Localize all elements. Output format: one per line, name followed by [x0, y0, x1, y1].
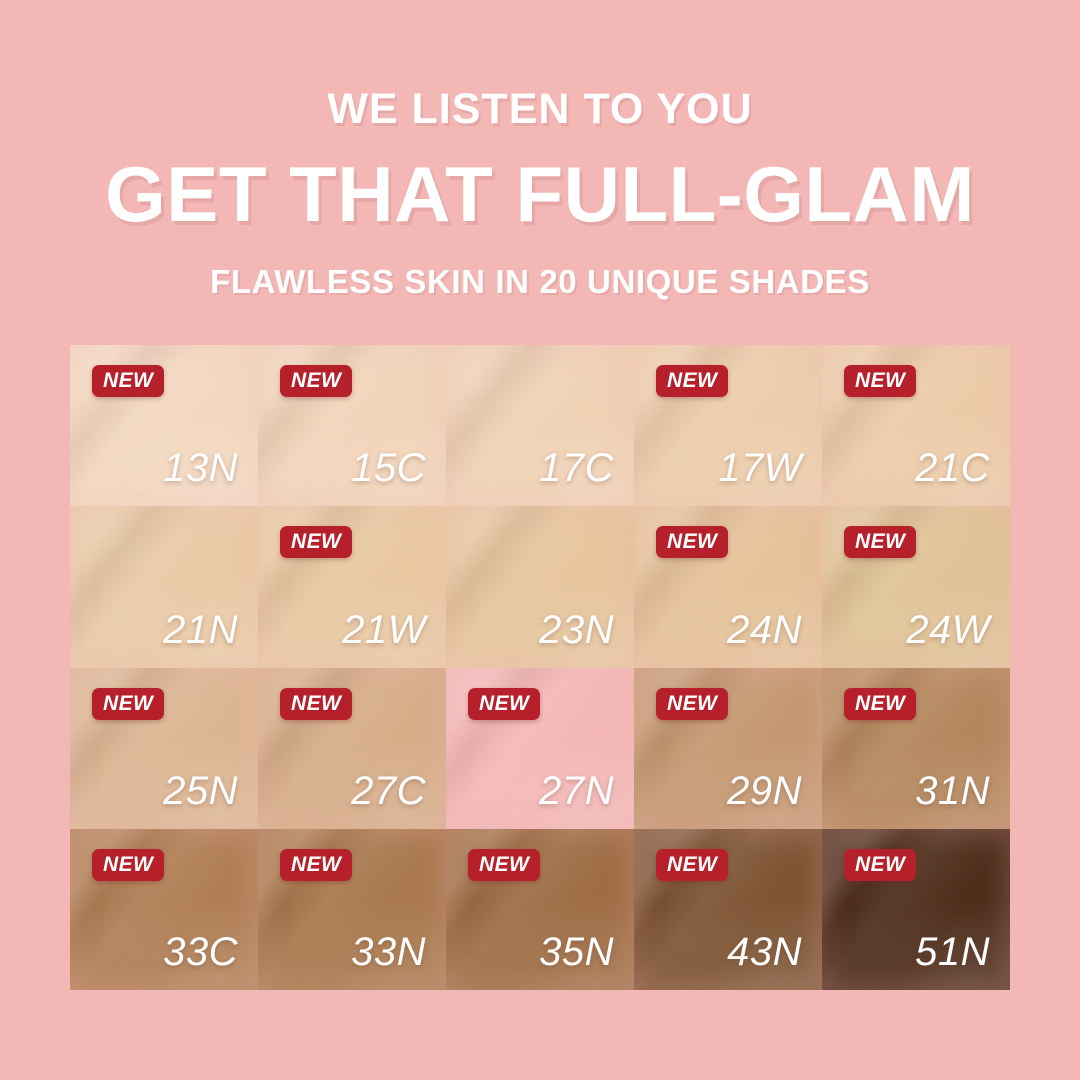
shade-code-label: 21N — [163, 610, 238, 650]
new-badge: NEW — [280, 688, 352, 720]
promo-banner: WE LISTEN TO YOU GET THAT FULL-GLAM FLAW… — [0, 0, 1080, 1080]
shade-code-label: 35N — [539, 932, 614, 972]
shade-code-label: 27N — [539, 771, 614, 811]
new-badge: NEW — [468, 688, 540, 720]
shade-code-label: 33C — [163, 932, 238, 972]
shade-code-label: 51N — [915, 932, 990, 972]
shade-swatch[interactable]: NEW27N — [446, 668, 634, 829]
shade-code-label: 13N — [163, 448, 238, 488]
shade-swatch[interactable]: NEW24N — [634, 506, 822, 667]
shade-swatch[interactable]: NEW24W — [822, 506, 1010, 667]
shade-code-label: 15C — [351, 448, 426, 488]
new-badge: NEW — [656, 849, 728, 881]
new-badge: NEW — [844, 526, 916, 558]
shade-code-label: 43N — [727, 932, 802, 972]
shade-swatch[interactable]: NEW29N — [634, 668, 822, 829]
shade-swatch[interactable]: NEW25N — [70, 668, 258, 829]
shade-code-label: 24W — [906, 610, 990, 650]
shade-swatch[interactable]: 23N — [446, 506, 634, 667]
shade-swatch[interactable]: NEW35N — [446, 829, 634, 990]
shade-swatch[interactable]: 17C — [446, 345, 634, 506]
eyebrow-text: WE LISTEN TO YOU — [0, 88, 1080, 131]
shade-swatch[interactable]: NEW51N — [822, 829, 1010, 990]
shade-code-label: 33N — [351, 932, 426, 972]
new-badge: NEW — [844, 365, 916, 397]
shade-swatch[interactable]: NEW15C — [258, 345, 446, 506]
new-badge: NEW — [280, 526, 352, 558]
shade-code-label: 24N — [727, 610, 802, 650]
headline-block: WE LISTEN TO YOU GET THAT FULL-GLAM FLAW… — [0, 0, 1080, 298]
new-badge: NEW — [280, 849, 352, 881]
new-badge: NEW — [656, 688, 728, 720]
new-badge: NEW — [844, 849, 916, 881]
shade-swatch[interactable]: NEW17W — [634, 345, 822, 506]
new-badge: NEW — [656, 365, 728, 397]
new-badge: NEW — [468, 849, 540, 881]
shade-swatch[interactable]: 21N — [70, 506, 258, 667]
new-badge: NEW — [92, 688, 164, 720]
shade-code-label: 25N — [163, 771, 238, 811]
new-badge: NEW — [656, 526, 728, 558]
shade-swatch[interactable]: NEW33C — [70, 829, 258, 990]
shade-code-label: 17C — [539, 448, 614, 488]
shade-grid: NEW13NNEW15C17CNEW17WNEW21C21NNEW21W23NN… — [70, 345, 1010, 990]
page-title: GET THAT FULL-GLAM — [0, 155, 1080, 233]
shade-swatch[interactable]: NEW31N — [822, 668, 1010, 829]
new-badge: NEW — [280, 365, 352, 397]
shade-code-label: 31N — [915, 771, 990, 811]
shade-code-label: 17W — [718, 448, 802, 488]
shade-swatch[interactable]: NEW33N — [258, 829, 446, 990]
new-badge: NEW — [92, 849, 164, 881]
shade-swatch[interactable]: NEW27C — [258, 668, 446, 829]
shade-code-label: 27C — [351, 771, 426, 811]
shade-code-label: 23N — [539, 610, 614, 650]
shade-swatch[interactable]: NEW13N — [70, 345, 258, 506]
shade-code-label: 21C — [915, 448, 990, 488]
shade-swatch[interactable]: NEW43N — [634, 829, 822, 990]
new-badge: NEW — [844, 688, 916, 720]
shade-swatch[interactable]: NEW21C — [822, 345, 1010, 506]
shade-code-label: 21W — [342, 610, 426, 650]
shade-code-label: 29N — [727, 771, 802, 811]
subheadline-text: FLAWLESS SKIN IN 20 UNIQUE SHADES — [0, 265, 1080, 298]
shade-swatch[interactable]: NEW21W — [258, 506, 446, 667]
new-badge: NEW — [92, 365, 164, 397]
